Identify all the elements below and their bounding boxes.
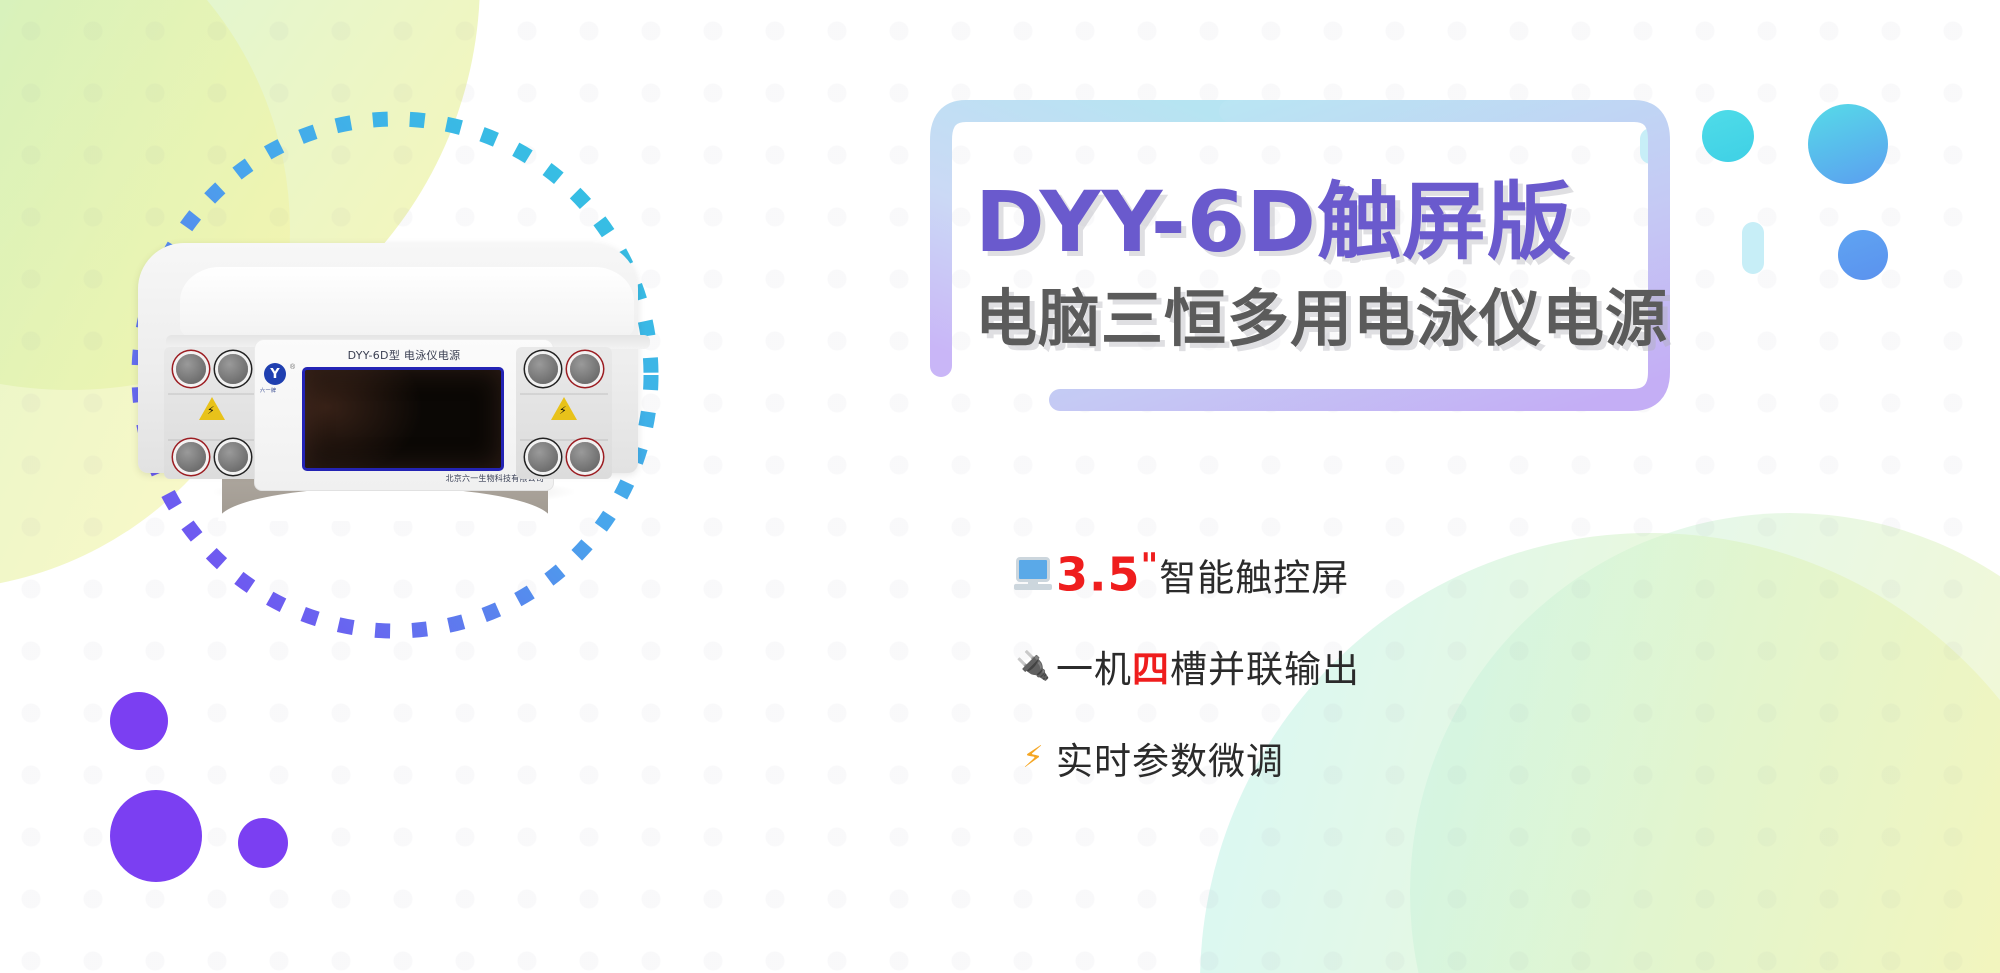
feature-inch-mark: ": [1141, 546, 1160, 586]
feature-text-before: 一机: [1056, 648, 1132, 691]
deco-circle-cyan-small: [1702, 110, 1754, 162]
product-image: Y ® 六一牌 DYY-6D型 电泳仪电源 北京六一生物科技有限公司: [118, 225, 678, 525]
product-banner: Y ® 六一牌 DYY-6D型 电泳仪电源 北京六一生物科技有限公司: [0, 0, 2000, 973]
feature-highlight-four: 四: [1132, 648, 1170, 691]
deco-circle-blue-small: [1838, 230, 1888, 280]
right-jack-panel: [516, 347, 612, 479]
deco-pill-pale-right: [1742, 222, 1764, 274]
jack-red-top-left: [176, 354, 206, 384]
feature-label-realtime-tuning: 实时参数微调: [1056, 731, 1284, 785]
feature-list: 3.5"智能触控屏 🔌 一机四槽并联输出 ⚡ 实时参数微调: [1010, 540, 1710, 816]
feature-text-touchscreen: 智能触控屏: [1159, 557, 1349, 600]
device-body: Y ® 六一牌 DYY-6D型 电泳仪电源 北京六一生物科技有限公司: [138, 243, 638, 473]
title-frame-decoration: [930, 100, 1670, 460]
page-title: DYY-6D触屏版: [975, 180, 1572, 264]
feature-item-touchscreen: 3.5"智能触控屏: [1010, 540, 1710, 608]
feature-highlight-size: 3.5: [1056, 548, 1141, 602]
brand-logo-sublabel: 六一牌: [260, 387, 277, 394]
panel-divider: [168, 393, 256, 395]
feature-label-four-slot: 一机四槽并联输出: [1056, 639, 1360, 693]
jack-black-top-left: [218, 354, 248, 384]
high-voltage-warning-icon: [199, 397, 225, 420]
jack-black-bottom-left: [218, 442, 248, 472]
feature-text-after: 槽并联输出: [1170, 648, 1360, 691]
monitor-icon: [1010, 557, 1056, 591]
jack-red-top-right: [570, 354, 600, 384]
panel-divider: [520, 393, 608, 395]
plug-icon: 🔌: [1010, 652, 1056, 680]
jack-black-top-right: [528, 354, 558, 384]
deco-circle-purple-small: [110, 692, 168, 750]
feature-item-realtime-tuning: ⚡ 实时参数微调: [1010, 724, 1710, 792]
brand-logo-icon: Y: [264, 363, 286, 385]
deco-circle-purple-tiny: [238, 818, 288, 868]
device-front-panel: Y ® 六一牌 DYY-6D型 电泳仪电源 北京六一生物科技有限公司: [254, 339, 554, 491]
registered-mark-icon: ®: [290, 364, 295, 371]
jack-black-bottom-right: [528, 442, 558, 472]
deco-circle-cyan-large: [1808, 104, 1888, 184]
left-jack-panel: [164, 347, 260, 479]
bolt-icon: ⚡: [1010, 743, 1056, 773]
device-model-label: DYY-6D型 电泳仪电源: [254, 347, 554, 363]
feature-item-four-slot: 🔌 一机四槽并联输出: [1010, 632, 1710, 700]
device-lcd-screen: [302, 367, 504, 471]
jack-red-bottom-right: [570, 442, 600, 472]
jack-red-bottom-left: [176, 442, 206, 472]
page-subtitle: 电脑三恒多用电泳仪电源: [975, 288, 1668, 350]
high-voltage-warning-icon: [551, 397, 577, 420]
device-top-highlight: [180, 267, 634, 341]
feature-label-touchscreen: 3.5"智能触控屏: [1056, 546, 1349, 601]
deco-circle-purple-large: [110, 790, 202, 882]
